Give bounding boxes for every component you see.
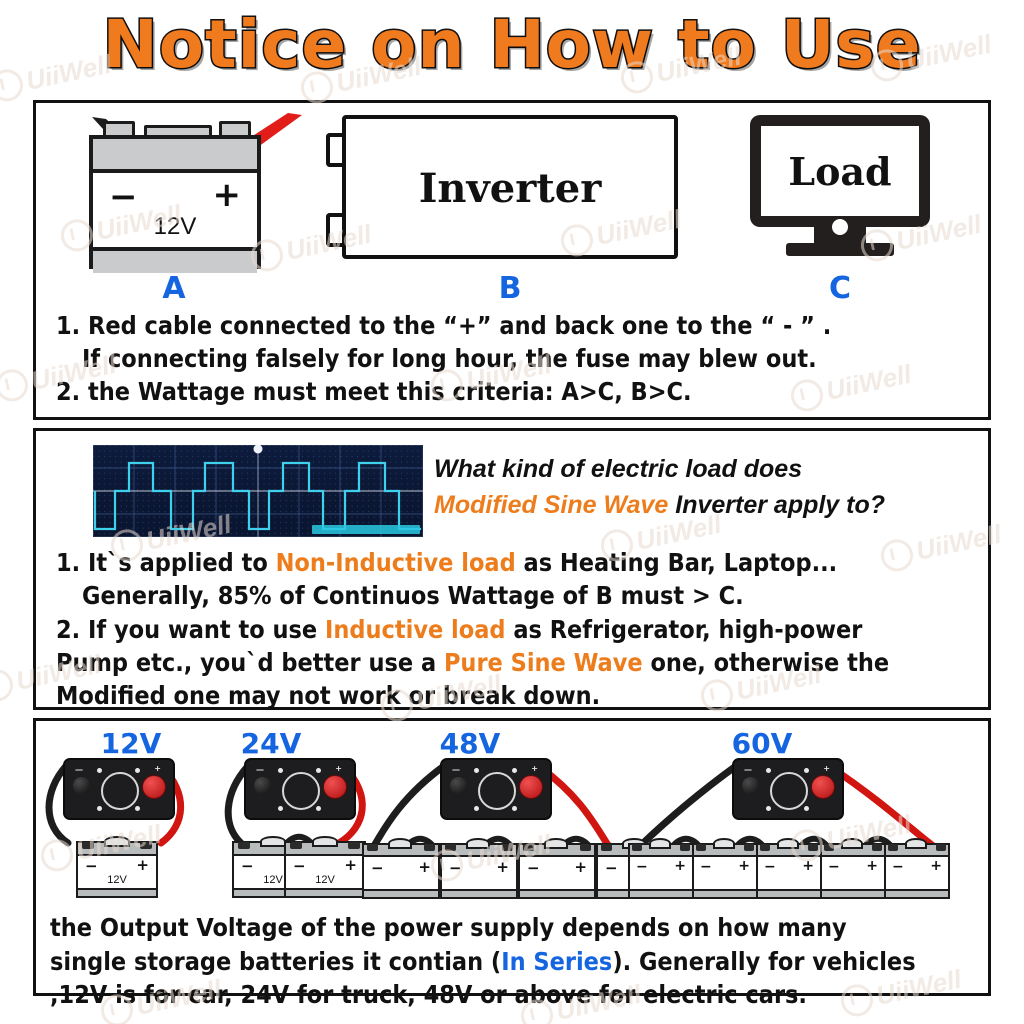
panel1-note-2-line-1: the Wattage must meet this criteria: A>C… [88, 377, 692, 406]
monitor-base [786, 243, 894, 256]
inverter-positive-knob-24v [323, 775, 347, 799]
panel2-note-1-line-2: Generally, 85% of Continuos Wattage of B… [82, 581, 744, 610]
battery-minus: − [449, 859, 462, 877]
series-battery: − + [820, 843, 886, 901]
inverter-screw-60v [804, 768, 809, 773]
battery-base [518, 891, 596, 899]
battery-post [936, 844, 946, 851]
battery-face: − + 12V [284, 854, 366, 890]
battery-cap [649, 838, 671, 849]
inverter-screw-48v [474, 806, 479, 811]
inverter-positive-knob-60v [811, 775, 835, 799]
inverter-minus-mark-60v: — [744, 765, 752, 774]
panel2-note-2: 2. If you want to use Inductive load as … [56, 613, 986, 646]
inverter-screw-48v [512, 768, 517, 773]
battery-face: − + [692, 855, 758, 891]
panel1-notes: 1. Red cable connected to the “+” and ba… [56, 309, 976, 408]
battery-base [820, 891, 886, 899]
group-48v-label: 48V [395, 727, 545, 760]
series-battery: − + [692, 843, 758, 901]
load-label: Load [788, 149, 891, 194]
label-a: A [124, 271, 224, 306]
battery-plus: + [674, 858, 686, 874]
battery-minus: − [892, 859, 904, 875]
battery-base [76, 890, 158, 898]
battery-minus: − [764, 859, 776, 875]
battery-post [367, 844, 378, 851]
inverter-negative-post-12v [73, 777, 90, 794]
battery-voltage-label: 12V [93, 213, 257, 241]
battery-base [284, 890, 366, 898]
poster-page: UiiWell UiiWell UiiWell UiiWell UiiWell … [0, 0, 1024, 1024]
page-title: Notice on How to Use [0, 12, 1024, 78]
inverter-screw-48v [474, 768, 479, 773]
battery-minus: − [293, 857, 306, 875]
monitor-power-dot [832, 219, 848, 235]
inverter-fan-24v [282, 772, 320, 810]
panel3-line-2-post: ). Generally for vehicles [612, 947, 915, 976]
inverter-minus-mark-12v: — [75, 765, 83, 774]
battery-plus: + [802, 858, 814, 874]
panel-series-wiring: 12V — + − + 12V 24V [33, 718, 991, 996]
scope-status-bar [312, 525, 420, 534]
battery-post [888, 844, 898, 851]
battery-minus: − [700, 859, 712, 875]
oscilloscope-display [93, 445, 423, 537]
battery-voltage: 12V [78, 874, 156, 886]
battery-cap [466, 838, 490, 849]
load-monitor: Load [750, 115, 930, 265]
inverter-box: Inverter [342, 115, 678, 259]
panel3-line-2: single storage batteries it contian (In … [50, 945, 985, 979]
watermark-logo-icon [0, 366, 31, 404]
panel2-note-2-highlight-2: Pure Sine Wave [444, 648, 643, 677]
inverter-screw-60v [766, 768, 771, 773]
panel2-note-1-number: 1. [56, 548, 80, 577]
battery-face: − + [820, 855, 886, 891]
label-b: B [460, 271, 560, 306]
group-24v-label: 24V [196, 727, 346, 760]
label-c: C [790, 271, 890, 306]
battery-plus: + [136, 856, 149, 874]
inverter-screw-24v [316, 768, 321, 773]
panel2-question-line-1: What kind of electric load does [434, 451, 994, 487]
panel2-question-rest: Inverter apply to? [668, 491, 885, 519]
battery-post [632, 844, 642, 851]
battery-face: − + [362, 855, 440, 891]
battery-post [348, 842, 360, 849]
series-battery: − + [362, 843, 440, 901]
battery-post [424, 844, 435, 851]
battery-plus: + [496, 858, 509, 876]
inverter-negative-post-24v [254, 777, 271, 794]
inverter-positive-knob-48v [519, 775, 543, 799]
page-title-wrapper: Notice on How to Use [0, 12, 1024, 78]
inverter-screw-48v [512, 806, 517, 811]
battery-face: − + 12V [93, 173, 257, 247]
battery-plus: + [738, 858, 750, 874]
battery-face: − + 12V [76, 854, 158, 890]
battery-post [140, 842, 152, 849]
panel2-note-2-line2-post: one, otherwise the [643, 648, 889, 677]
watermark-logo-icon [0, 666, 16, 704]
battery-post [680, 844, 690, 851]
battery-minus: − [85, 857, 98, 875]
panel1-note-1-line-2: If connecting falsely for long hour, the… [82, 344, 817, 373]
monitor-screen: Load [750, 115, 930, 227]
inverter-module-12v: — + [63, 758, 175, 820]
battery-cap [544, 838, 568, 849]
series-battery: − + 12V [76, 841, 158, 901]
battery-plus: + [930, 858, 942, 874]
group-60v-label: 60V [687, 727, 837, 760]
panel3-line-2-highlight: In Series [501, 947, 612, 976]
waveform-svg [93, 445, 423, 537]
panel2-question-line-2: Modified Sine Wave Inverter apply to? [434, 487, 994, 523]
panel2-note-2-line2-pre: Pump etc., you`d better use a [56, 648, 444, 677]
panel3-line-3: ,12V is for car, 24V for truck, 48V or a… [50, 978, 985, 1012]
battery-post [82, 842, 94, 849]
battery-case: − + 12V [89, 135, 261, 269]
inverter-fan-12v [101, 772, 139, 810]
battery-base-band [93, 247, 257, 273]
battery-post [580, 844, 591, 851]
inverter-label: Inverter [346, 165, 674, 212]
series-battery: − + [518, 843, 596, 901]
inverter-fan-48v [478, 772, 516, 810]
battery-cap [388, 838, 412, 849]
inverter-plus-mark-24v: + [335, 764, 342, 773]
panel1-note-1-line-1: Red cable connected to the “+” and back … [88, 311, 831, 340]
battery-base [440, 891, 518, 899]
battery-cap [312, 836, 338, 847]
connection-diagram: − + 12V A Inverter B Load [36, 103, 988, 299]
panel2-note-2-number: 2. [56, 615, 80, 644]
battery-plus: + [574, 858, 587, 876]
panel3-line-2-pre: single storage batteries it contian ( [50, 947, 501, 976]
inverter-screw-12v [97, 768, 102, 773]
battery-face: − + [628, 855, 694, 891]
inverter-module-48v: — + [440, 758, 552, 820]
panel2-note-1: 1. It`s applied to Non-Inductive load as… [56, 546, 986, 579]
panel2-notes: 1. It`s applied to Non-Inductive load as… [56, 546, 986, 712]
inverter-screw-12v [135, 768, 140, 773]
panel2-note-2-highlight: Inductive load [325, 615, 505, 644]
panel2-note-2-mid: as Refrigerator, high-power [506, 615, 863, 644]
battery-cap [841, 838, 863, 849]
battery-face: − + [518, 855, 596, 891]
battery-base [692, 891, 758, 899]
battery-base [628, 891, 694, 899]
panel2-note-1-pre: It`s applied to [88, 548, 276, 577]
series-battery: − + [756, 843, 822, 901]
panel2-note-1-post: as Heating Bar, Laptop... [516, 548, 838, 577]
battery-plus-symbol: + [213, 175, 242, 215]
battery-cap [713, 838, 735, 849]
panel1-note-2: 2. the Wattage must meet this criteria: … [56, 375, 976, 408]
battery-face: − + [884, 855, 950, 891]
battery-minus: − [605, 859, 618, 877]
inverter-screw-12v [97, 806, 102, 811]
panel2-question: What kind of electric load does Modified… [434, 451, 994, 524]
inverter-negative-post-60v [742, 777, 759, 794]
battery-post [601, 844, 612, 851]
battery-post [290, 842, 302, 849]
battery-cap [104, 836, 130, 847]
battery-minus: − [241, 857, 254, 875]
inverter-module-24v: — + [244, 758, 356, 820]
inverter-screw-12v [135, 806, 140, 811]
series-battery: − + [440, 843, 518, 901]
battery-post [808, 844, 818, 851]
battery-plus: + [344, 856, 357, 874]
inverter-screw-24v [278, 768, 283, 773]
battery-minus: − [828, 859, 840, 875]
battery-voltage: 12V [286, 874, 364, 886]
inverter-minus-mark-48v: — [452, 765, 460, 774]
battery-cap [905, 838, 927, 849]
panel2-note-1-highlight: Non-Inductive load [276, 548, 516, 577]
panel-connection-diagram: − + 12V A Inverter B Load [33, 100, 991, 420]
panel1-note-1-number: 1. [56, 311, 80, 340]
battery-post [696, 844, 706, 851]
battery-a: − + 12V [89, 123, 261, 269]
inverter-plus-mark-12v: + [154, 764, 161, 773]
battery-post [445, 844, 456, 851]
inverter-screw-60v [804, 806, 809, 811]
battery-post [502, 844, 513, 851]
inverter-fan-60v [770, 772, 808, 810]
panel2-note-1-continued: Generally, 85% of Continuos Wattage of B… [56, 579, 986, 612]
battery-minus-symbol: − [109, 177, 138, 217]
battery-minus: − [527, 859, 540, 877]
battery-base [884, 891, 950, 899]
panel1-note-2-number: 2. [56, 377, 80, 406]
inverter-screw-60v [766, 806, 771, 811]
battery-post [238, 842, 250, 849]
inverter-minus-mark-24v: — [256, 765, 264, 774]
series-battery: − + [884, 843, 950, 901]
inverter-positive-knob-12v [142, 775, 166, 799]
panel-waveform-info: What kind of electric load does Modified… [33, 428, 991, 710]
battery-top-band [93, 139, 257, 173]
panel3-description: the Output Voltage of the power supply d… [50, 911, 985, 1012]
inverter-screw-24v [278, 806, 283, 811]
battery-plus: + [866, 858, 878, 874]
battery-cap [260, 836, 286, 847]
panel3-line-1: the Output Voltage of the power supply d… [50, 911, 985, 945]
battery-post [760, 844, 770, 851]
panel2-note-2-pre: If you want to use [88, 615, 325, 644]
battery-post [523, 844, 534, 851]
battery-base [756, 891, 822, 899]
inverter-screw-24v [316, 806, 321, 811]
group-12v-label: 12V [56, 727, 206, 760]
battery-base [362, 891, 440, 899]
battery-post [872, 844, 882, 851]
battery-cap [777, 838, 799, 849]
battery-post [744, 844, 754, 851]
inverter-plus-mark-60v: + [823, 764, 830, 773]
panel2-note-2-line-2: Pump etc., you`d better use a Pure Sine … [56, 646, 986, 679]
battery-face: − + [756, 855, 822, 891]
panel2-question-highlight: Modified Sine Wave [434, 491, 668, 519]
panel1-note-1-continued: If connecting falsely for long hour, the… [56, 342, 976, 375]
battery-post [824, 844, 834, 851]
panel1-note-1: 1. Red cable connected to the “+” and ba… [56, 309, 976, 342]
inverter-module-60v: — + [732, 758, 844, 820]
series-battery: − + 12V [284, 841, 366, 901]
battery-face: − + [440, 855, 518, 891]
series-battery: − + [628, 843, 694, 901]
panel2-note-2-line-3: Modified one may not work or break down. [56, 679, 986, 712]
inverter-plus-mark-48v: + [531, 764, 538, 773]
battery-plus: + [418, 858, 431, 876]
battery-minus: − [636, 859, 648, 875]
inverter-negative-post-48v [450, 777, 467, 794]
battery-minus: − [371, 859, 384, 877]
